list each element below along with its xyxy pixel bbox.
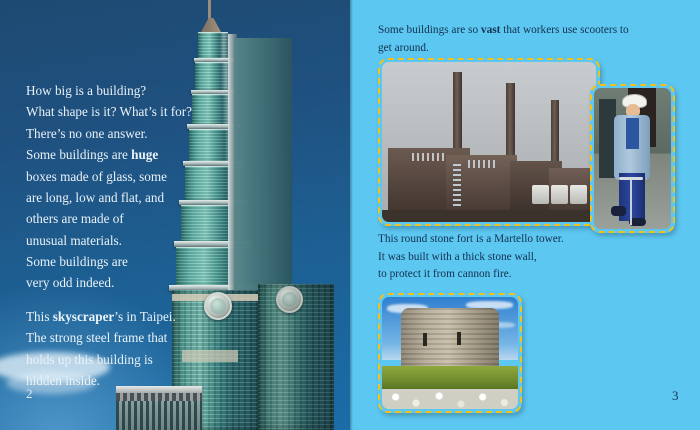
worker-shoe bbox=[611, 206, 626, 216]
bold-word-vast: vast bbox=[481, 24, 500, 36]
bold-word-huge: huge bbox=[131, 147, 158, 162]
rocky-ground bbox=[382, 389, 518, 409]
body-line: boxes made of glass, some bbox=[26, 169, 167, 184]
body-line: The strong steel frame that bbox=[26, 330, 167, 345]
roof-windows bbox=[116, 401, 202, 430]
bold-word-skyscraper: skyscraper bbox=[53, 309, 115, 324]
book-gutter-shadow bbox=[350, 0, 353, 430]
tower-segment bbox=[198, 32, 228, 61]
station-windows bbox=[468, 160, 498, 168]
right-intro-text: Some buildings are so vast that workers … bbox=[378, 22, 688, 57]
body-line: ’s in Taipei. bbox=[114, 309, 175, 324]
caption-line: This round stone fort is a Martello towe… bbox=[378, 233, 564, 245]
page-number-right: 3 bbox=[672, 388, 679, 404]
storage-tank bbox=[532, 185, 549, 204]
body-line: How big is a building? bbox=[26, 83, 146, 98]
paragraph-one: How big is a building? What shape is it?… bbox=[26, 80, 211, 294]
chimney bbox=[551, 100, 558, 167]
tower-window-slit bbox=[423, 333, 427, 346]
station-windows bbox=[412, 153, 444, 161]
photo-ground bbox=[382, 210, 596, 222]
body-line: This bbox=[26, 309, 53, 324]
caption-line: It was built with a thick stone wall, bbox=[378, 251, 537, 263]
body-line: There’s no one answer. bbox=[26, 126, 148, 141]
body-line: are long, low and flat, and bbox=[26, 190, 164, 205]
worker-shirt bbox=[626, 118, 638, 149]
martello-caption: This round stone fort is a Martello towe… bbox=[378, 231, 678, 284]
scooter-stem bbox=[630, 180, 632, 225]
tower-spire bbox=[208, 0, 211, 20]
worker-photo-inner bbox=[594, 88, 671, 229]
page-number-left: 2 bbox=[26, 386, 33, 402]
body-line: holds up this building is bbox=[26, 352, 153, 367]
left-page-body-text: How big is a building? What shape is it?… bbox=[26, 80, 211, 403]
book-spread: How big is a building? What shape is it?… bbox=[0, 0, 700, 430]
body-line: others are made of bbox=[26, 211, 124, 226]
martello-tower-photo bbox=[378, 293, 522, 413]
right-page: Some buildings are so vast that workers … bbox=[350, 0, 700, 430]
martello-photo-inner bbox=[382, 297, 518, 409]
doorway bbox=[599, 99, 616, 178]
body-line: What shape is it? What’s it for? bbox=[26, 104, 192, 119]
grass bbox=[382, 366, 518, 391]
body-line: very odd indeed. bbox=[26, 275, 114, 290]
body-line: Some buildings are bbox=[26, 254, 128, 269]
storage-tank bbox=[551, 185, 568, 204]
tower-window-slit bbox=[457, 332, 461, 345]
worker-on-scooter-photo bbox=[590, 84, 675, 233]
tower-shadow-face bbox=[234, 38, 292, 290]
power-station-photo bbox=[378, 58, 600, 226]
intro-line: Some buildings are so bbox=[378, 24, 481, 36]
intro-line: that workers use scooters to bbox=[500, 24, 628, 36]
body-line: Some buildings are bbox=[26, 147, 131, 162]
tower-medallion bbox=[276, 286, 303, 313]
storage-tank bbox=[570, 185, 587, 204]
chimney bbox=[506, 83, 515, 163]
station-windows bbox=[453, 164, 462, 206]
body-line: unusual materials. bbox=[26, 233, 122, 248]
left-page: How big is a building? What shape is it?… bbox=[0, 0, 350, 430]
tower-spire-base bbox=[201, 18, 221, 32]
power-station-photo-inner bbox=[382, 62, 596, 222]
body-line: hidden inside. bbox=[26, 373, 100, 388]
intro-line: get around. bbox=[378, 42, 429, 54]
paragraph-two: This skyscraper’s in Taipei. The strong … bbox=[26, 306, 211, 392]
caption-line: to protect it from cannon fire. bbox=[378, 268, 512, 280]
